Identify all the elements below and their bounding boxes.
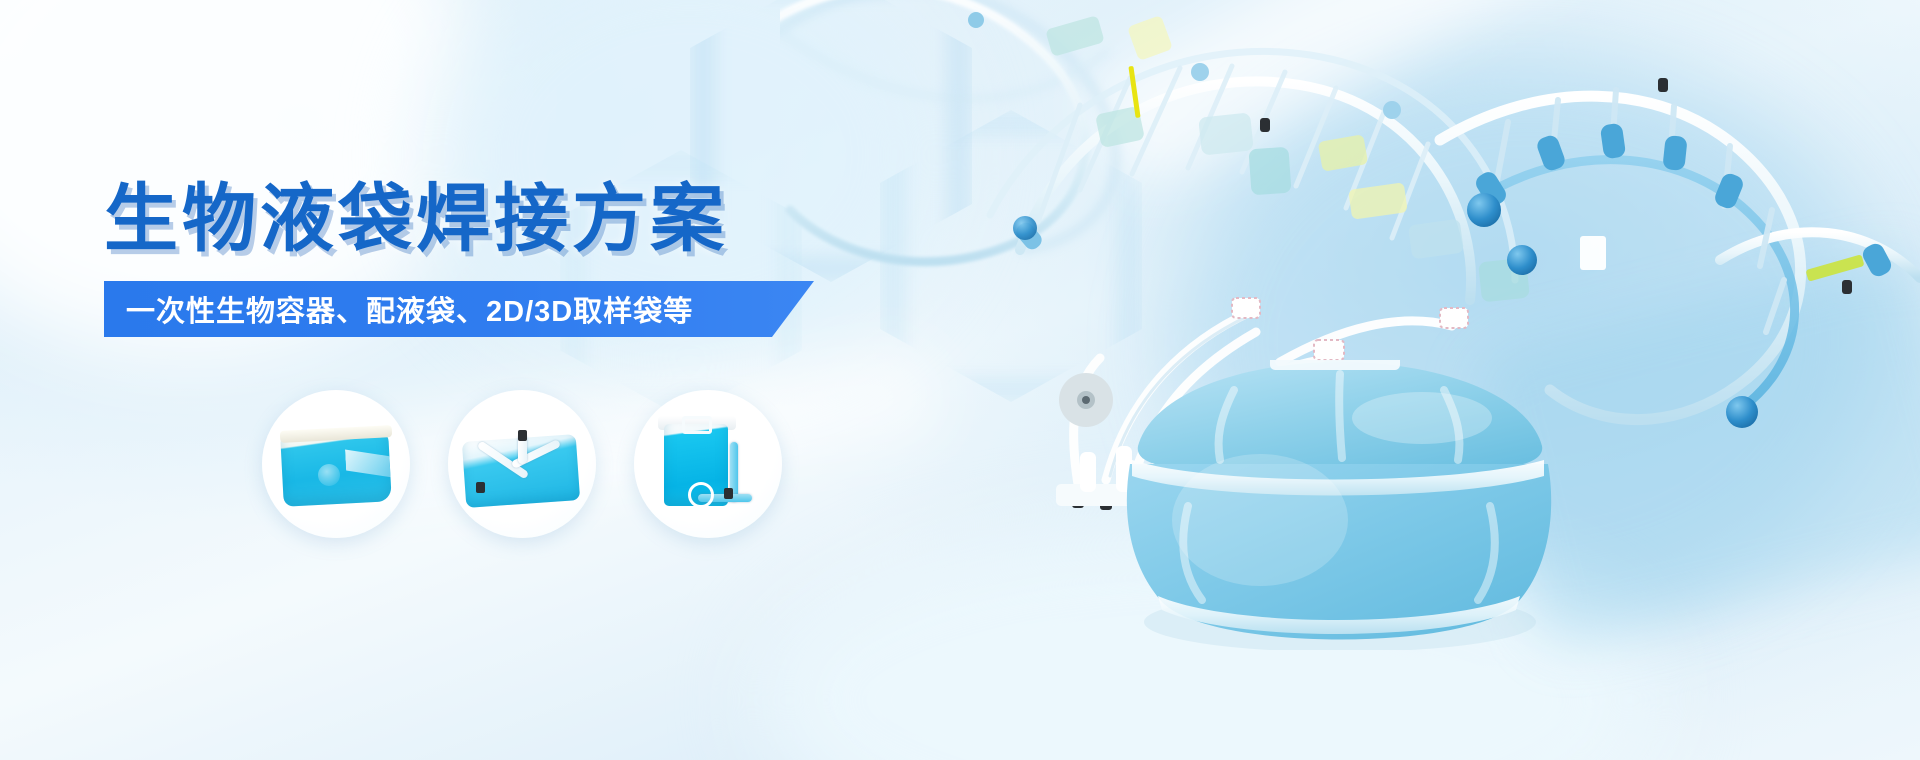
bag-port-highlight [318, 464, 340, 486]
sampling-clamp [724, 488, 733, 499]
tube-clamp-top [518, 430, 527, 441]
bag-handle [682, 416, 712, 434]
product-thumb-disposable-bio-container[interactable] [262, 390, 410, 538]
product-thumb-mixing-bag[interactable] [448, 390, 596, 538]
subtitle-text: 一次性生物容器、配液袋、2D/3D取样袋等 [126, 288, 693, 330]
hero-banner: 生物液袋焊接方案 一次性生物容器、配液袋、2D/3D取样袋等 [0, 0, 1920, 760]
banner-headline: 生物液袋焊接方案 [104, 178, 728, 260]
product-thumbnail-row [262, 386, 822, 546]
product-thumb-sampling-bag[interactable] [634, 390, 782, 538]
tube-clamp-left [476, 482, 485, 493]
sampling-port-ring [688, 482, 714, 508]
subtitle-ribbon: 一次性生物容器、配液袋、2D/3D取样袋等 [104, 281, 814, 337]
hero-bio-container-bag [1092, 360, 1572, 650]
